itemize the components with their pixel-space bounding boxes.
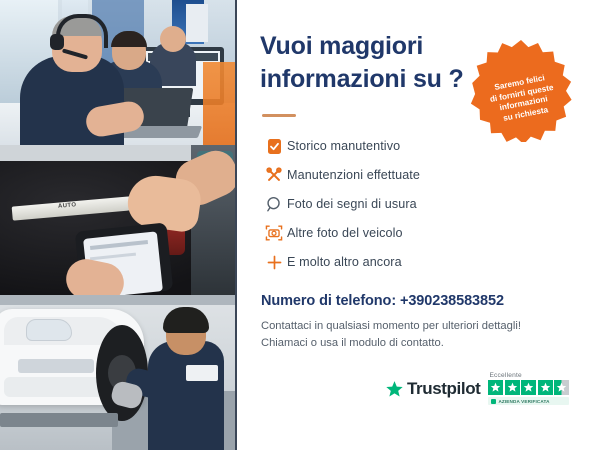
contact-line-1: Contattaci in qualsiasi momento per ulte… (261, 318, 521, 335)
photo-column: AUTO (0, 0, 237, 450)
camera-focus-icon (261, 224, 287, 242)
star-rating (488, 380, 569, 395)
person-3-head (160, 26, 186, 52)
headset-icon (460, 45, 485, 66)
star-icon (538, 380, 553, 395)
support-badge: Saremo felici di fornirti queste informa… (469, 38, 573, 142)
car-headlight (26, 319, 72, 341)
car-inspection-photo: AUTO (0, 145, 237, 295)
star-icon (488, 380, 503, 395)
list-item-label: Altre foto del veicolo (287, 226, 403, 240)
list-item: Altre foto del veicolo (261, 219, 501, 247)
ceiling-rail (0, 295, 237, 305)
car-lift-photo (0, 295, 237, 450)
star-icon (505, 380, 520, 395)
plus-icon (261, 254, 287, 271)
tools-cross-icon (261, 166, 287, 184)
lift-arm (0, 413, 118, 427)
rating-block: Eccellente AZIENDA VERIFICATA (488, 372, 569, 405)
contact-description: Contattaci in qualsiasi momento per ulte… (261, 318, 521, 352)
list-item: E molto altro ancora (261, 248, 501, 276)
uniform-logo (186, 365, 218, 381)
content-panel: Vuoi maggiori informazioni su ? Saremo f… (237, 0, 600, 450)
orange-foreground-blur (203, 62, 237, 145)
star-half-icon (554, 380, 569, 395)
page-title: Vuoi maggiori informazioni su ? (260, 30, 475, 95)
mechanic-body (148, 341, 224, 450)
verified-badge: AZIENDA VERIFICATA (488, 397, 569, 405)
wall-poster-inner (186, 4, 208, 42)
star-icon (521, 380, 536, 395)
list-item-label: Storico manutentivo (287, 139, 400, 153)
car-grille (18, 359, 94, 373)
headset-earcup (50, 34, 64, 50)
list-item-label: Manutenzioni effettuate (287, 168, 420, 182)
list-item: Storico manutentivo (261, 132, 501, 160)
trustpilot-wordmark: Trustpilot (407, 379, 480, 399)
verified-check-icon (491, 399, 496, 404)
call-center-photo (0, 0, 237, 145)
title-underline (262, 114, 296, 117)
list-item-label: Foto dei segni di usura (287, 197, 417, 211)
feature-list: Storico manutentivo Manutenzioni effettu… (261, 132, 501, 277)
promo-banner: AUTO (0, 0, 600, 450)
trustpilot-rating[interactable]: Trustpilot Eccellente AZIENDA VERIFICATA (385, 372, 569, 405)
trustpilot-star-icon (385, 380, 404, 399)
verified-label: AZIENDA VERIFICATA (498, 399, 549, 404)
magnifier-icon (261, 196, 287, 213)
contact-line-2: Chiamaci o usa il modulo di contatto. (261, 335, 521, 352)
trustpilot-logo: Trustpilot (385, 379, 480, 399)
phone-number[interactable]: Numero di telefono: +390238583852 (261, 293, 504, 309)
list-item: Manutenzioni effettuate (261, 161, 501, 189)
checkbox-checked-icon (261, 138, 287, 155)
rating-label: Eccellente (489, 372, 569, 379)
list-item-label: E molto altro ancora (287, 255, 402, 269)
list-item: Foto dei segni di usura (261, 190, 501, 218)
